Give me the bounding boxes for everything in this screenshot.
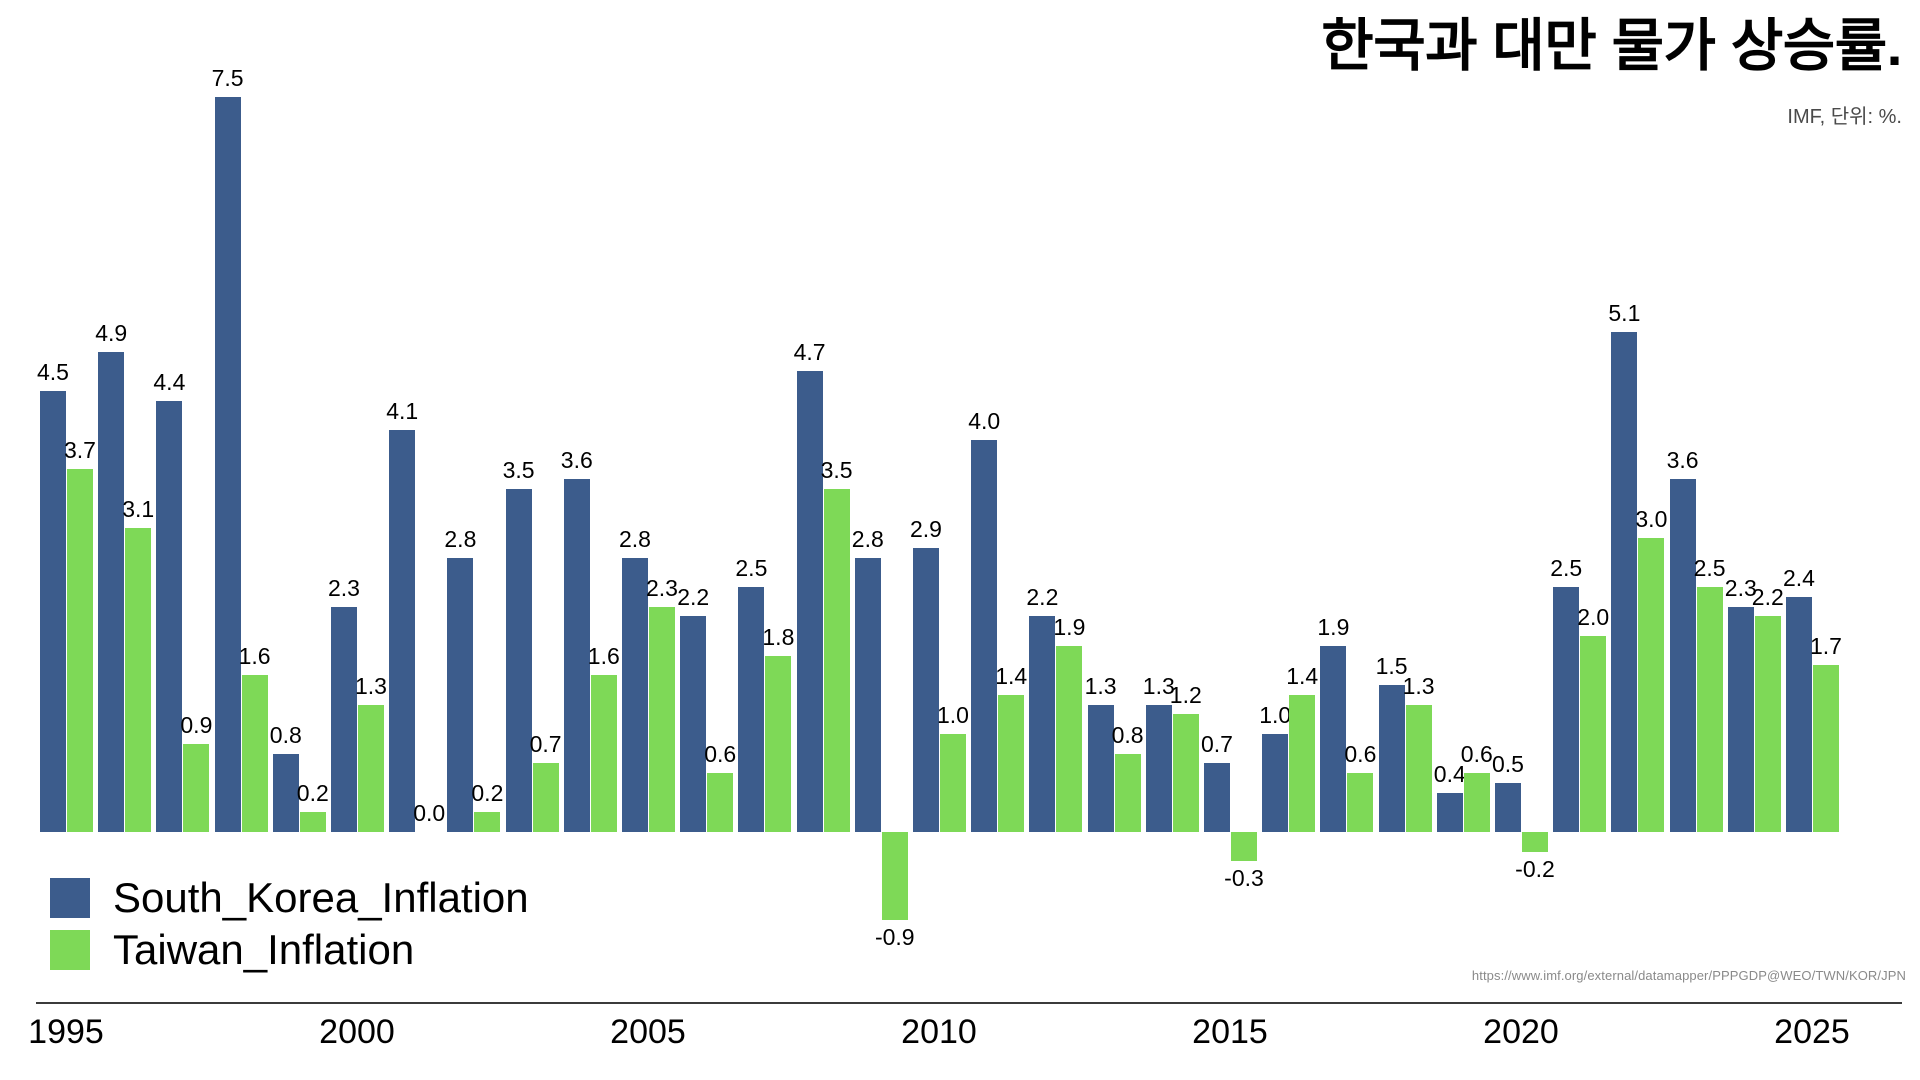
- data-label-taiwan-2017: 0.6: [1338, 743, 1382, 766]
- legend-item-taiwan-inflation[interactable]: Taiwan_Inflation: [50, 924, 529, 976]
- x-tick-label-2005: 2005: [610, 1013, 686, 1052]
- bar-taiwan-2021[interactable]: [1580, 636, 1606, 832]
- bar-taiwan-1998[interactable]: [242, 675, 268, 832]
- x-axis-line: [36, 1002, 1902, 1004]
- bar-korea-2019[interactable]: [1437, 793, 1463, 832]
- data-label-taiwan-2010: 1.0: [931, 704, 975, 727]
- bar-group: 3.62.5: [1670, 0, 1724, 1080]
- data-label-taiwan-2002: 0.2: [465, 782, 509, 805]
- bar-taiwan-2007[interactable]: [765, 656, 791, 832]
- x-tick-label-2015: 2015: [1192, 1013, 1268, 1052]
- bar-taiwan-2014[interactable]: [1173, 714, 1199, 832]
- data-label-korea-1995: 4.5: [31, 361, 75, 384]
- bar-group: 2.21.9: [1029, 0, 1083, 1080]
- data-label-taiwan-2015: -0.3: [1222, 867, 1266, 890]
- bar-group: 0.7-0.3: [1204, 0, 1258, 1080]
- bar-korea-2011[interactable]: [971, 440, 997, 832]
- bar-group: 2.82.3: [622, 0, 676, 1080]
- bar-taiwan-2011[interactable]: [998, 695, 1024, 832]
- bar-taiwan-2019[interactable]: [1464, 773, 1490, 832]
- bar-taiwan-2025[interactable]: [1813, 665, 1839, 832]
- data-label-korea-2020: 0.5: [1486, 753, 1530, 776]
- bar-korea-1997[interactable]: [156, 401, 182, 832]
- data-label-taiwan-2004: 1.6: [582, 645, 626, 668]
- bar-group: 1.01.4: [1262, 0, 1316, 1080]
- data-label-korea-2003: 3.5: [497, 459, 541, 482]
- x-tick-label-1995: 1995: [28, 1013, 104, 1052]
- data-label-taiwan-2011: 1.4: [989, 665, 1033, 688]
- data-label-taiwan-2009: -0.9: [873, 926, 917, 949]
- bar-taiwan-2023[interactable]: [1697, 587, 1723, 832]
- bar-group: 4.73.5: [797, 0, 851, 1080]
- data-label-korea-2006: 2.2: [671, 586, 715, 609]
- data-label-korea-2001: 4.1: [380, 400, 424, 423]
- legend: South_Korea_Inflation Taiwan_Inflation: [50, 872, 529, 976]
- bar-korea-2000[interactable]: [331, 607, 357, 832]
- bar-korea-2003[interactable]: [506, 489, 532, 832]
- bar-korea-2015[interactable]: [1204, 763, 1230, 832]
- data-label-taiwan-1997: 0.9: [174, 714, 218, 737]
- bar-taiwan-1997[interactable]: [183, 744, 209, 832]
- bar-group: 3.61.6: [564, 0, 618, 1080]
- bar-group: 1.30.8: [1088, 0, 1142, 1080]
- data-label-korea-2011: 4.0: [962, 410, 1006, 433]
- bar-group: 2.41.7: [1786, 0, 1840, 1080]
- data-label-taiwan-2000: 1.3: [349, 675, 393, 698]
- bar-korea-2014[interactable]: [1146, 705, 1172, 832]
- bar-korea-1998[interactable]: [215, 97, 241, 832]
- x-tick-label-2010: 2010: [901, 1013, 977, 1052]
- bar-taiwan-1995[interactable]: [67, 469, 93, 832]
- bar-korea-2007[interactable]: [738, 587, 764, 832]
- data-label-korea-1996: 4.9: [89, 322, 133, 345]
- data-label-korea-2000: 2.3: [322, 577, 366, 600]
- bar-korea-1996[interactable]: [98, 352, 124, 832]
- data-label-korea-2017: 1.9: [1311, 616, 1355, 639]
- bar-group: 2.20.6: [680, 0, 734, 1080]
- bar-taiwan-2002[interactable]: [474, 812, 500, 832]
- bar-group: 1.90.6: [1320, 0, 1374, 1080]
- data-label-taiwan-2008: 3.5: [815, 459, 859, 482]
- bar-taiwan-1996[interactable]: [125, 528, 151, 832]
- bar-taiwan-2020[interactable]: [1522, 832, 1548, 852]
- bar-taiwan-2016[interactable]: [1289, 695, 1315, 832]
- bar-taiwan-2003[interactable]: [533, 763, 559, 832]
- data-label-korea-2010: 2.9: [904, 518, 948, 541]
- bar-group: 2.91.0: [913, 0, 967, 1080]
- bar-taiwan-2015[interactable]: [1231, 832, 1257, 861]
- data-label-taiwan-2025: 1.7: [1804, 635, 1848, 658]
- data-label-korea-1997: 4.4: [147, 371, 191, 394]
- bar-group: 2.52.0: [1553, 0, 1607, 1080]
- data-label-korea-2004: 3.6: [555, 449, 599, 472]
- bar-korea-2006[interactable]: [680, 616, 706, 832]
- data-label-korea-2009: 2.8: [846, 528, 890, 551]
- data-label-taiwan-1999: 0.2: [291, 782, 335, 805]
- bar-group: 5.13.0: [1611, 0, 1665, 1080]
- source-url-link[interactable]: https://www.imf.org/external/datamapper/…: [1472, 968, 1906, 983]
- data-label-taiwan-1995: 3.7: [58, 439, 102, 462]
- data-label-korea-2007: 2.5: [729, 557, 773, 580]
- bar-taiwan-1999[interactable]: [300, 812, 326, 832]
- chart-page: 한국과 대만 물가 상승률. IMF, 단위: %. 4.53.74.93.14…: [0, 0, 1920, 1080]
- x-tick-label-2025: 2025: [1774, 1013, 1850, 1052]
- data-label-taiwan-1996: 3.1: [116, 498, 160, 521]
- data-label-taiwan-2020: -0.2: [1513, 858, 1557, 881]
- data-label-taiwan-2022: 3.0: [1629, 508, 1673, 531]
- data-label-korea-2015: 0.7: [1195, 733, 1239, 756]
- data-label-taiwan-2016: 1.4: [1280, 665, 1324, 688]
- data-label-taiwan-2003: 0.7: [524, 733, 568, 756]
- bar-taiwan-2022[interactable]: [1638, 538, 1664, 832]
- data-label-taiwan-2006: 0.6: [698, 743, 742, 766]
- data-label-taiwan-2007: 1.8: [756, 626, 800, 649]
- x-tick-label-2020: 2020: [1483, 1013, 1559, 1052]
- bar-korea-2022[interactable]: [1611, 332, 1637, 832]
- bar-taiwan-2005[interactable]: [649, 607, 675, 832]
- bar-group: 4.01.4: [971, 0, 1025, 1080]
- bar-korea-2012[interactable]: [1029, 616, 1055, 832]
- data-label-korea-2023: 3.6: [1661, 449, 1705, 472]
- data-label-korea-1998: 7.5: [206, 67, 250, 90]
- legend-label: Taiwan_Inflation: [113, 929, 414, 971]
- bar-korea-2008[interactable]: [797, 371, 823, 832]
- data-label-taiwan-2018: 1.3: [1397, 675, 1441, 698]
- legend-swatch-icon: [50, 878, 90, 918]
- bar-korea-2018[interactable]: [1379, 685, 1405, 832]
- legend-label: South_Korea_Inflation: [113, 877, 529, 919]
- legend-item-south-korea-inflation[interactable]: South_Korea_Inflation: [50, 872, 529, 924]
- bar-taiwan-2017[interactable]: [1347, 773, 1373, 832]
- data-label-taiwan-2012: 1.9: [1047, 616, 1091, 639]
- bar-korea-2024[interactable]: [1728, 607, 1754, 832]
- bar-group: 2.8-0.9: [855, 0, 909, 1080]
- bar-taiwan-2010[interactable]: [940, 734, 966, 832]
- bar-korea-2023[interactable]: [1670, 479, 1696, 832]
- bar-group: 0.5-0.2: [1495, 0, 1549, 1080]
- bar-group: 2.51.8: [738, 0, 792, 1080]
- bar-korea-2016[interactable]: [1262, 734, 1288, 832]
- bar-korea-2009[interactable]: [855, 558, 881, 832]
- bar-group: 0.40.6: [1437, 0, 1491, 1080]
- data-label-korea-2008: 4.7: [788, 341, 832, 364]
- legend-swatch-icon: [50, 930, 90, 970]
- bar-taiwan-2013[interactable]: [1115, 754, 1141, 832]
- data-label-taiwan-2021: 2.0: [1571, 606, 1615, 629]
- data-label-korea-2012: 2.2: [1020, 586, 1064, 609]
- bar-taiwan-2009[interactable]: [882, 832, 908, 920]
- bar-korea-2010[interactable]: [913, 548, 939, 832]
- bar-korea-2025[interactable]: [1786, 597, 1812, 832]
- bar-taiwan-2024[interactable]: [1755, 616, 1781, 832]
- data-label-korea-2025: 2.4: [1777, 567, 1821, 590]
- data-label-korea-2022: 5.1: [1602, 302, 1646, 325]
- bar-taiwan-2004[interactable]: [591, 675, 617, 832]
- bar-korea-2001[interactable]: [389, 430, 415, 832]
- bar-korea-2020[interactable]: [1495, 783, 1521, 832]
- data-label-korea-2021: 2.5: [1544, 557, 1588, 580]
- data-label-taiwan-2001: 0.0: [407, 802, 451, 825]
- bar-group: 2.32.2: [1728, 0, 1782, 1080]
- data-label-taiwan-2013: 0.8: [1106, 724, 1150, 747]
- x-tick-label-2000: 2000: [319, 1013, 395, 1052]
- data-label-korea-2002: 2.8: [438, 528, 482, 551]
- bar-taiwan-2006[interactable]: [707, 773, 733, 832]
- bar-group: 1.31.2: [1146, 0, 1200, 1080]
- bar-korea-2017[interactable]: [1320, 646, 1346, 832]
- bar-group: 1.51.3: [1379, 0, 1433, 1080]
- data-label-korea-2005: 2.8: [613, 528, 657, 551]
- data-label-korea-1999: 0.8: [264, 724, 308, 747]
- data-label-korea-2013: 1.3: [1079, 675, 1123, 698]
- data-label-taiwan-1998: 1.6: [233, 645, 277, 668]
- bar-taiwan-2000[interactable]: [358, 705, 384, 832]
- data-label-taiwan-2014: 1.2: [1164, 684, 1208, 707]
